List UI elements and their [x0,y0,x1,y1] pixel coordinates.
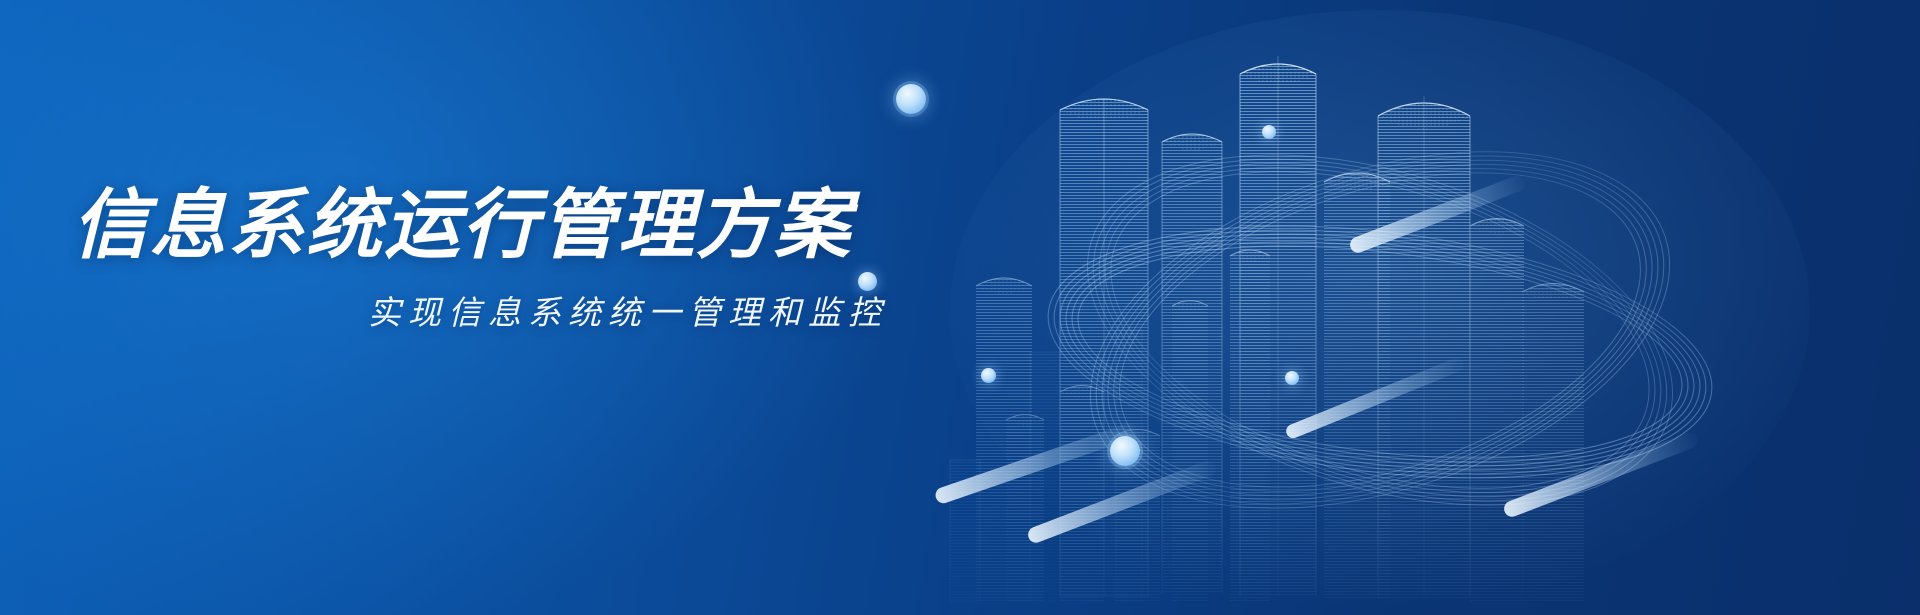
building [1116,330,1142,602]
light-streaks [933,173,1699,545]
building [1060,98,1148,596]
building [1522,284,1584,603]
glow-dot [1262,125,1276,139]
city-svg [910,0,1920,615]
building [1114,430,1160,603]
orbit-rings-back [1045,85,1715,575]
light-streak [1348,173,1527,255]
building [1230,250,1270,602]
building [1060,386,1104,603]
orbit-rings-front [1034,192,1726,512]
wireframe-city-illustration [910,0,1920,615]
building [1324,173,1390,600]
building [1162,134,1222,594]
light-streak [933,421,1139,505]
building [1172,301,1208,603]
light-streak [1026,458,1218,545]
banner-subtitle: 实现信息系统统一管理和监控 [72,286,902,334]
building [1470,219,1524,603]
building [1378,96,1470,598]
hero-banner: 信息系统运行管理方案 实现信息系统统一管理和监控 [0,0,1920,615]
banner-title: 信息系统运行管理方案 [72,188,902,264]
building [976,278,1032,602]
glow-dot [1110,436,1140,466]
building [950,460,980,602]
glow-dot [981,368,996,383]
building [1240,56,1316,596]
light-streak [1284,356,1465,440]
light-streak [1502,430,1700,519]
banner-text-block: 信息系统运行管理方案 实现信息系统统一管理和监控 [72,188,902,334]
building [1030,352,1060,602]
illustration-glow [950,10,1810,610]
building [1006,415,1044,603]
building-cluster [950,56,1584,602]
glow-dot [1285,371,1299,385]
glow-dot [896,84,926,114]
